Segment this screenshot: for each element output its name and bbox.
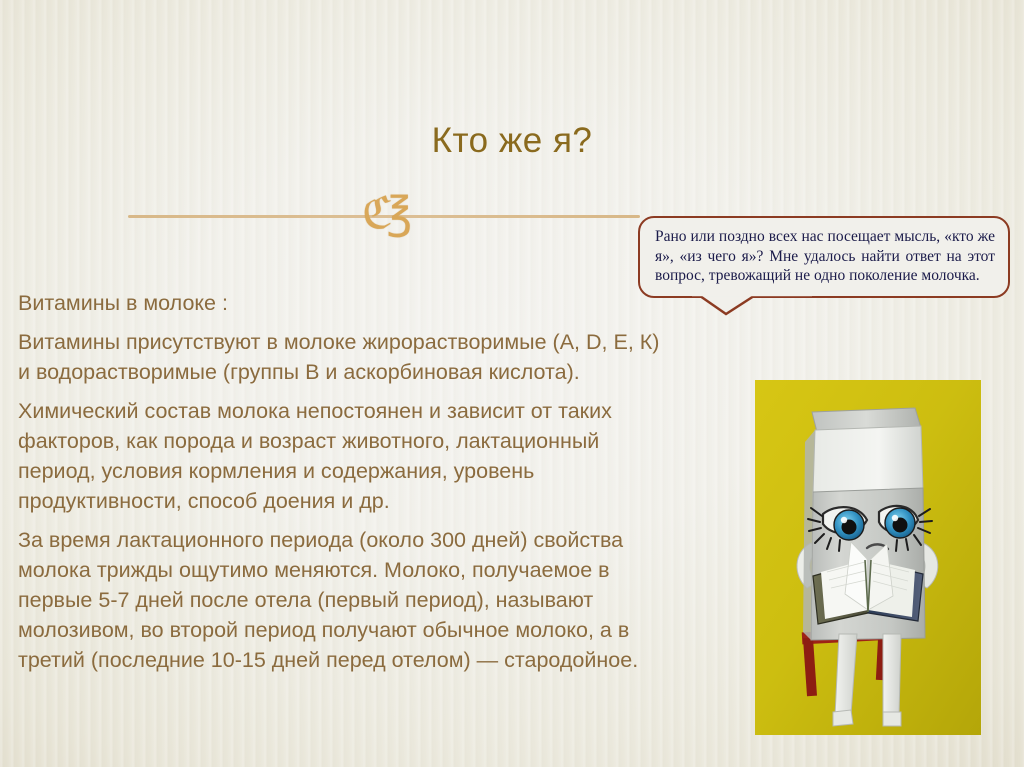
milk-carton-photo	[755, 380, 981, 735]
body-copy: Витамины в молоке : Витамины присутствую…	[18, 288, 664, 675]
speech-bubble-tail-icon	[692, 294, 812, 316]
speech-bubble-text: Рано или поздно всех нас посещает мысль,…	[655, 227, 995, 286]
body-paragraph-heading: Витамины в молоке :	[18, 288, 664, 318]
page-title: Кто же я?	[0, 121, 1024, 161]
slide-canvas: Кто же я? ℭ℥ Рано или поздно всех нас по…	[0, 0, 1024, 767]
speech-bubble: Рано или поздно всех нас посещает мысль,…	[638, 216, 1010, 298]
milk-carton-illustration-icon	[755, 380, 981, 735]
ornament-divider: ℭ℥	[128, 196, 640, 240]
body-paragraph-lactation: За время лактационного периода (около 30…	[18, 525, 664, 675]
body-paragraph-composition: Химический состав молока непостоянен и з…	[18, 396, 664, 516]
body-paragraph-vitamins: Витамины присутствуют в молоке жирораств…	[18, 327, 664, 387]
flourish-ornament-icon: ℭ℥	[362, 192, 406, 236]
